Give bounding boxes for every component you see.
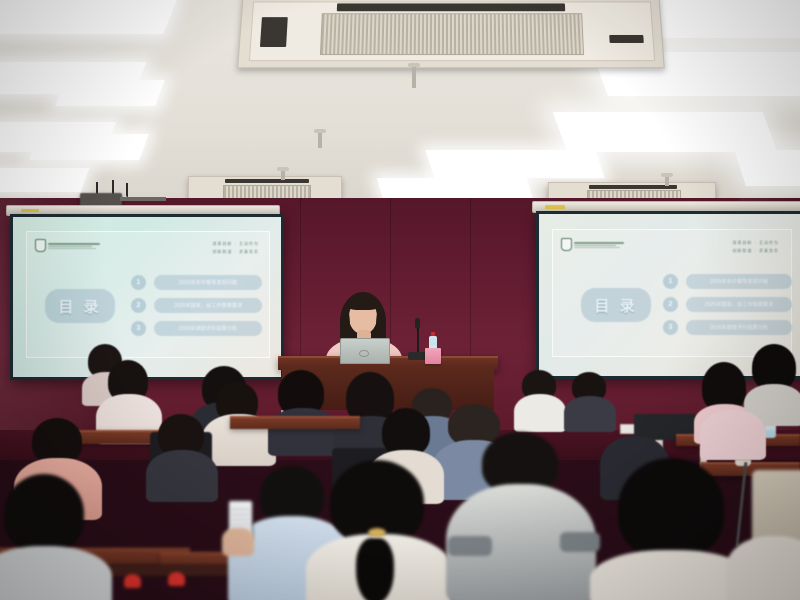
roller-label — [545, 205, 565, 209]
led-panel-light — [734, 150, 800, 186]
polo-sleeve-trim — [560, 532, 600, 552]
toc-item-label: 2025年国家、省工作督察要求 — [154, 298, 262, 313]
toc-item-number: 2 — [663, 297, 678, 312]
polo-sleeve-trim — [448, 536, 492, 556]
ponytail — [356, 538, 394, 600]
emblem-icon — [35, 239, 46, 252]
slide-toc-list: 1 2025年年中督导发现问题 2 2025年国家、省工作督察要求 3 2026… — [663, 274, 792, 335]
slide-org-logo — [561, 238, 624, 251]
slide-left: 改革创新 · 主动作为 创新和谐 · 求真务实 目 录 1 2025年年中督导发… — [13, 217, 281, 377]
audience-person — [516, 370, 562, 426]
led-panel-light — [55, 80, 164, 106]
person-torso — [514, 394, 566, 432]
sprinkler-head — [665, 176, 669, 186]
bottle-cap — [168, 572, 185, 586]
toc-item-label: 2025年国家、省工作督察要求 — [686, 297, 792, 312]
toc-item-number: 2 — [131, 298, 146, 313]
toc-item-label: 2025年年中督导发现问题 — [686, 274, 792, 289]
toc-item-number: 3 — [131, 321, 146, 336]
slide-toc-list: 1 2025年年中督导发现问题 2 2025年国家、省工作督察要求 3 2026… — [131, 275, 262, 336]
toc-item-label: 2025年年中督导发现问题 — [154, 275, 262, 290]
audience-person — [0, 474, 104, 600]
toc-item-number: 1 — [131, 275, 146, 290]
toc-item-label: 2026年绩效评价结果分析 — [154, 321, 262, 336]
toc-item-number: 3 — [663, 320, 678, 335]
person-torso — [726, 536, 800, 600]
presenter-laptop — [340, 338, 390, 364]
toc-title-text: 目 录 — [58, 296, 101, 317]
toc-item-label: 2026年绩效评价结果分析 — [686, 320, 792, 335]
slide-toc-title: 目 录 — [581, 288, 651, 322]
emblem-icon — [561, 238, 572, 251]
led-panel-light — [29, 134, 148, 160]
cassette-air-conditioner — [237, 0, 665, 68]
left-projection-screen: 改革创新 · 主动作为 创新和谐 · 求真务实 目 录 1 2025年年中督导发… — [10, 214, 284, 380]
led-panel-light — [553, 112, 778, 152]
led-panel-light — [0, 168, 89, 192]
audience-person — [596, 458, 746, 600]
slogan-line-2: 创新和谐 · 求真务实 — [732, 248, 779, 254]
person-hair — [4, 474, 84, 552]
hair-tie — [368, 528, 386, 537]
slogan-line-1: 改革创新 · 主动作为 — [732, 240, 779, 246]
slide-toc-title: 目 录 — [45, 289, 115, 323]
slogan-line-2: 创新和谐 · 求真务实 — [212, 249, 259, 255]
toc-item: 1 2025年年中督导发现问题 — [131, 275, 262, 290]
roller-label — [21, 209, 39, 212]
projector-cable — [126, 183, 128, 197]
sprinkler-head — [412, 66, 416, 88]
sprinkler-head — [281, 170, 285, 180]
toc-item: 3 2026年绩效评价结果分析 — [131, 321, 262, 336]
pink-name-card — [425, 348, 441, 364]
projector-mount-arm — [120, 197, 166, 201]
sprinkler-head — [318, 132, 322, 148]
audience-person — [456, 432, 586, 600]
led-panel-light — [0, 0, 177, 34]
slide-org-logo — [35, 239, 100, 252]
person-hair — [618, 458, 724, 558]
toc-item: 2 2025年国家、省工作督察要求 — [131, 298, 262, 313]
toc-item: 2 2025年国家、省工作督察要求 — [663, 297, 792, 312]
audience-person — [726, 536, 800, 600]
toc-item-number: 1 — [663, 274, 678, 289]
bottle-cap — [431, 332, 435, 336]
toc-item: 3 2026年绩效评价结果分析 — [663, 320, 792, 335]
hand-holding-phone — [222, 528, 254, 556]
led-panel-light — [377, 178, 533, 200]
toc-title-text: 目 录 — [594, 295, 637, 316]
desk — [230, 416, 360, 429]
conference-room-photo: 改革创新 · 主动作为 创新和谐 · 求真务实 目 录 1 2025年年中督导发… — [0, 0, 800, 600]
person-torso — [0, 546, 112, 600]
person-hair — [382, 408, 430, 456]
org-name-block — [574, 242, 624, 248]
microphone-gooseneck — [417, 328, 419, 354]
person-torso — [146, 450, 218, 502]
slide-slogan: 改革创新 · 主动作为 创新和谐 · 求真务实 — [212, 241, 259, 255]
audience-person — [700, 400, 762, 456]
toc-item: 1 2025年年中督导发现问题 — [663, 274, 792, 289]
slide-slogan: 改革创新 · 主动作为 创新和谐 · 求真务实 — [732, 240, 779, 254]
bottle-cap — [124, 574, 141, 588]
led-panel-light — [425, 150, 604, 178]
audience-person — [148, 414, 214, 496]
audience-person — [270, 370, 334, 448]
slogan-line-1: 改革创新 · 主动作为 — [212, 241, 259, 247]
person-torso — [700, 410, 766, 460]
org-name-block — [48, 243, 100, 249]
presenter-fringe — [347, 296, 379, 310]
ceiling — [0, 0, 800, 212]
